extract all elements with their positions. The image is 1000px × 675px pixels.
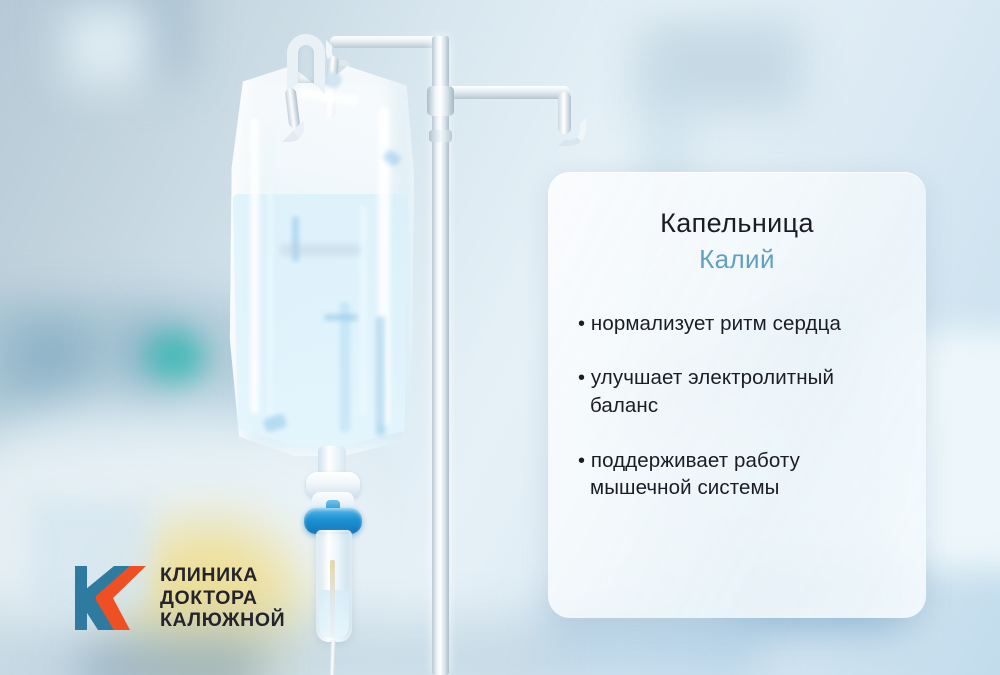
card-subtitle: Калий <box>578 243 896 276</box>
drip-chamber-needle <box>330 560 335 636</box>
benefit-item: • нормализует ритм сердца <box>578 310 896 338</box>
clinic-logo[interactable]: КЛИНИКА ДОКТОРА КАЛЮЖНОЙ <box>74 556 314 640</box>
logo-line-1: КЛИНИКА <box>160 564 285 587</box>
benefit-item: • поддерживает работу мышечной системы <box>578 447 896 502</box>
bullet-icon: • <box>578 367 585 389</box>
logo-wordmark: КЛИНИКА ДОКТОРА КАЛЮЖНОЙ <box>160 564 285 632</box>
iv-bag-fold <box>268 126 273 416</box>
iv-bag-label <box>280 244 360 256</box>
iv-tube <box>329 640 335 675</box>
bullet-icon: • <box>578 313 585 335</box>
iv-bag-tint <box>340 302 350 432</box>
iv-stand-arm-right <box>440 86 570 99</box>
double-chevron-k-icon <box>74 562 148 634</box>
promo-banner: Капельница Калий • нормализует ритм серд… <box>0 0 1000 675</box>
iv-bag-tint <box>376 316 385 436</box>
iv-bag-fold <box>250 118 259 414</box>
benefit-text: нормализует ритм сердца <box>591 312 841 335</box>
card-heading-block: Капельница Калий <box>578 208 896 276</box>
logo-line-2: ДОКТОРА <box>160 587 285 610</box>
iv-bag-hang-hole <box>324 72 342 88</box>
card-title: Капельница <box>578 208 896 239</box>
bullet-icon: • <box>578 450 585 472</box>
benefit-text: улучшает электролитный баланс <box>590 366 834 417</box>
iv-bag-fold <box>360 206 366 416</box>
iv-hook-front-icon <box>287 34 325 94</box>
logo-line-3: КАЛЮЖНОЙ <box>160 609 285 632</box>
info-card: Капельница Калий • нормализует ритм серд… <box>548 172 926 618</box>
benefit-text: поддерживает работу мышечной системы <box>590 449 800 500</box>
iv-hook-right-icon <box>558 118 586 146</box>
iv-fluid-bag <box>228 66 414 456</box>
iv-stand-pole-collar-lower <box>429 130 452 142</box>
benefits-list: • нормализует ритм сердца • улучшает эле… <box>578 310 896 502</box>
iv-stand-pole-collar <box>427 86 454 116</box>
benefit-item: • улучшает электролитный баланс <box>578 364 896 419</box>
